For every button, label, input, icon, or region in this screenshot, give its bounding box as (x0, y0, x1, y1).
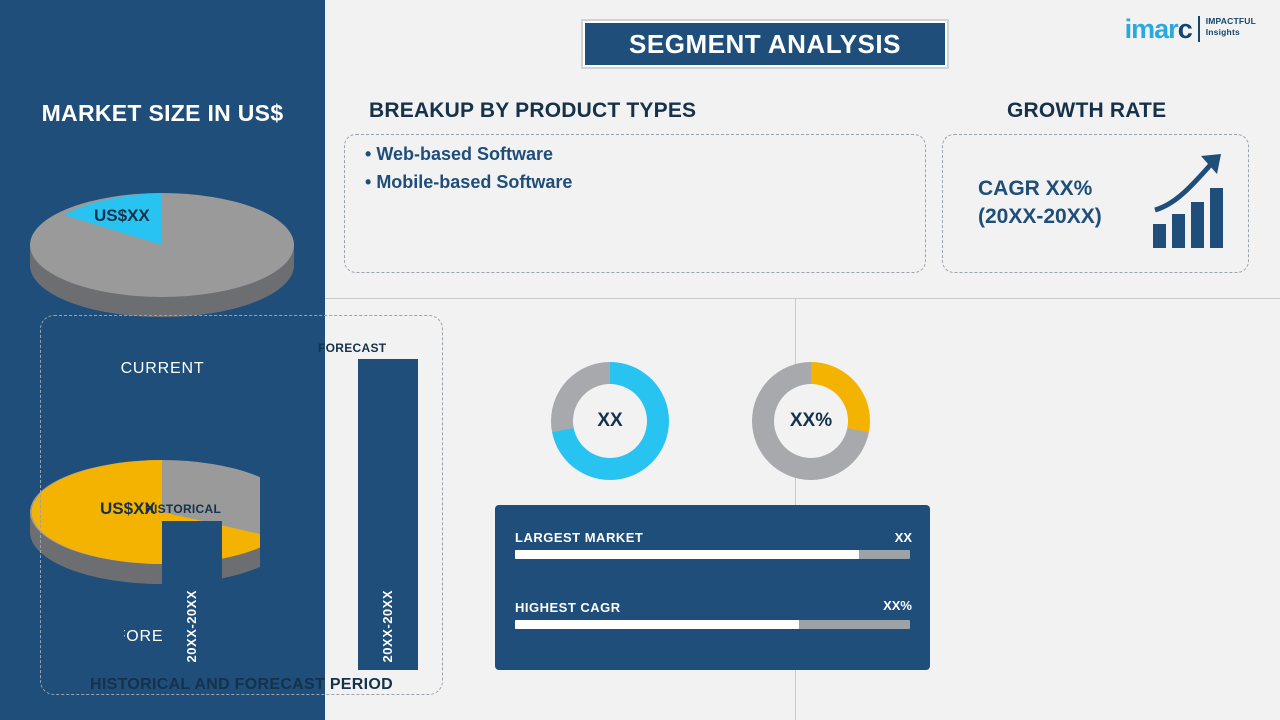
bar-2: 20XX-20XX (162, 521, 222, 670)
logo-wordmark: imarc (1125, 16, 1192, 43)
current-pie-label: US$XX (94, 206, 150, 226)
cagr-line-1: CAGR XX% (978, 175, 1102, 203)
current-pie-svg (28, 170, 296, 320)
forecast-annotation: FORECAST (318, 341, 386, 355)
chart-axis-caption: HISTORICAL AND FORECAST PERIOD (40, 676, 443, 694)
largest-market-track (515, 550, 910, 559)
historical-annotation: HISTORICAL (145, 502, 221, 516)
logo-tagline: IMPACTFUL Insights (1206, 16, 1256, 37)
key-stats-panel: LARGEST MARKET XX HIGHEST CAGR XX% (495, 505, 930, 670)
segment-analysis-title: SEGMENT ANALYSIS (629, 29, 901, 60)
logo-word-b: c (1178, 14, 1192, 44)
current-pie-chart: US$XX (28, 170, 296, 320)
list-item: Web-based Software (365, 144, 572, 165)
highest-cagr-value: XX% (883, 598, 912, 613)
donut-2-label: XX% (774, 384, 848, 458)
breakup-list: Web-based Software Mobile-based Software (365, 144, 572, 200)
largest-market-value: XX (895, 530, 912, 545)
growth-heading: GROWTH RATE (1007, 99, 1166, 123)
list-item: Mobile-based Software (365, 172, 572, 193)
bar-4: 20XX-20XX (358, 359, 418, 670)
logo-tagline-2: Insights (1206, 27, 1256, 38)
highest-cagr-label: HIGHEST CAGR (515, 600, 621, 615)
donut-1-label: XX (573, 384, 647, 458)
logo-divider (1198, 16, 1200, 42)
largest-market-fill (515, 550, 859, 559)
growth-arrow-icon (1151, 148, 1237, 258)
logo-word-a: imar (1125, 14, 1178, 44)
bar-label-4: 20XX-20XX (380, 590, 395, 662)
infographic-page: MARKET SIZE IN US$ US$XX CURRENT US$XX (0, 0, 1280, 720)
cagr-text: CAGR XX% (20XX-20XX) (978, 175, 1102, 232)
highest-cagr-track (515, 620, 910, 629)
logo-tagline-1: IMPACTFUL (1206, 16, 1256, 27)
breakup-heading: BREAKUP BY PRODUCT TYPES (369, 99, 696, 123)
largest-market-label: LARGEST MARKET (515, 530, 643, 545)
highest-cagr-fill (515, 620, 799, 629)
bar-3 (260, 451, 320, 670)
donut-chart-1: XX (551, 362, 669, 480)
donut-chart-2: XX% (752, 362, 870, 480)
cagr-line-2: (20XX-20XX) (978, 203, 1102, 231)
market-size-title: MARKET SIZE IN US$ (0, 100, 325, 127)
bar-1 (64, 611, 124, 670)
segment-analysis-banner: SEGMENT ANALYSIS (583, 21, 947, 67)
imarc-logo: imarc IMPACTFUL Insights (1125, 16, 1256, 43)
horizontal-divider (325, 298, 1280, 299)
bar-label-2: 20XX-20XX (184, 590, 199, 662)
bar-chart: 20XX-20XX 20XX-20XX (40, 340, 443, 670)
